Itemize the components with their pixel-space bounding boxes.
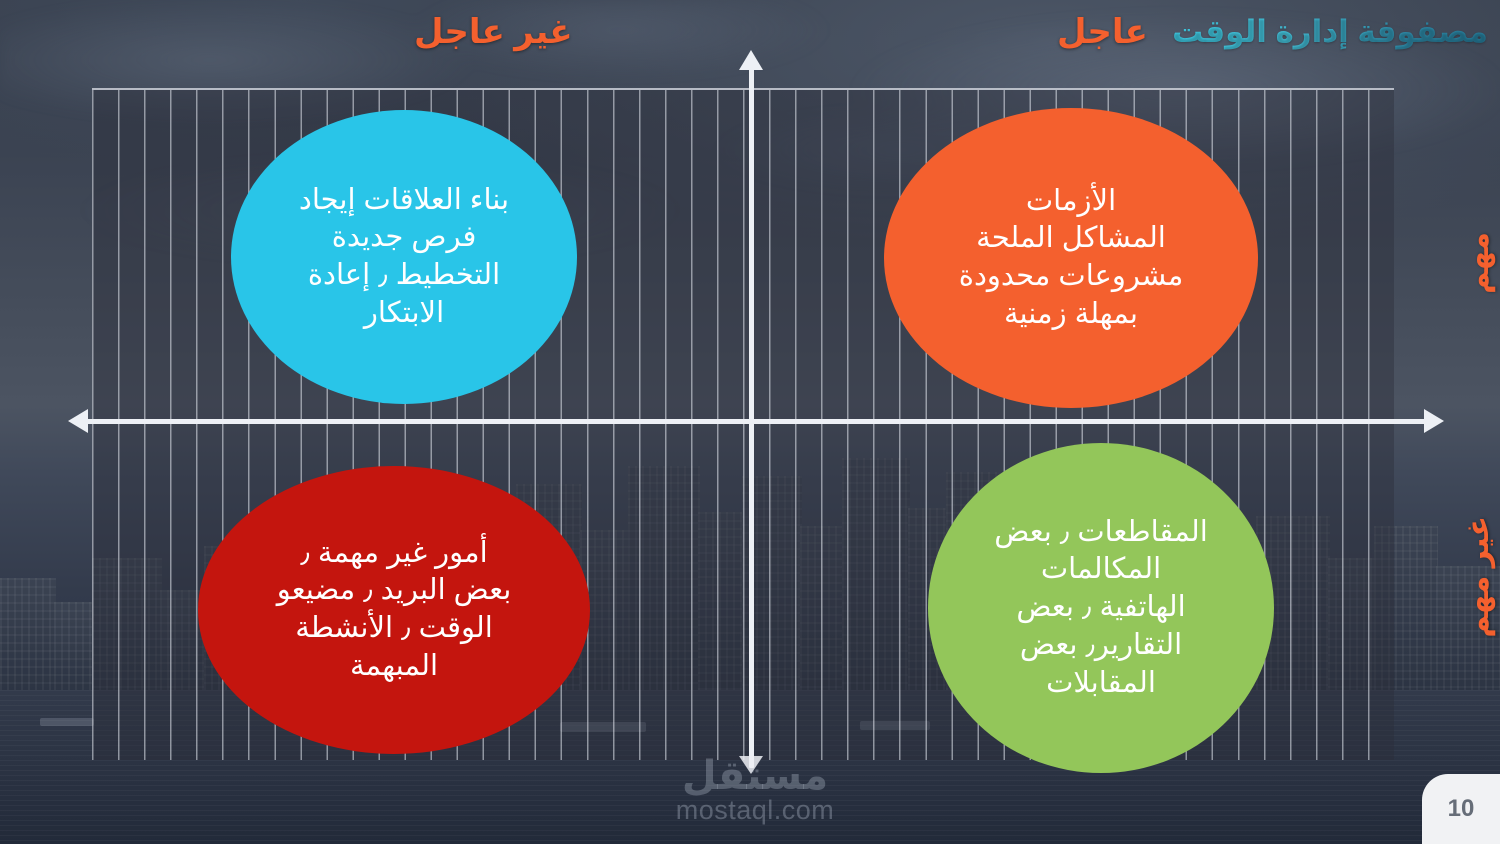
quadrant-line: المشاكل الملحة — [959, 220, 1184, 258]
quadrant-line: بناء العلاقات إيجاد — [299, 182, 509, 220]
quadrant-line: الأزمات — [959, 183, 1184, 221]
quadrant-line: المبهمة — [277, 648, 512, 686]
quadrant-line: المقابلات — [994, 665, 1208, 703]
column-header-urgent: عاجل — [1057, 12, 1148, 52]
quadrant-urgent-important: الأزمات المشاكل الملحة مشروعات محدودة بم… — [884, 108, 1258, 408]
quadrant-line: التخطيط ٫ إعادة — [299, 257, 509, 295]
quadrant-line: الابتكار — [299, 295, 509, 333]
slide-canvas: مصفوفة إدارة الوقت عاجل غير عاجل مهم غير… — [0, 0, 1500, 844]
page-number: 10 — [1448, 795, 1475, 823]
quadrant-urgent-not-important: المقاطعات ٫ بعض المكالمات الهاتفية ٫ بعض… — [928, 443, 1274, 773]
row-label-not-important: غير مهم — [1464, 516, 1494, 638]
arrow-right-icon — [1424, 409, 1444, 433]
quadrant-line: التقارير٫ بعض — [994, 627, 1208, 665]
page-title: مصفوفة إدارة الوقت — [1172, 14, 1488, 50]
page-number-badge: 10 — [1422, 774, 1500, 844]
column-header-not-urgent: غير عاجل — [414, 12, 573, 52]
quadrant-line: أمور غير مهمة ٫ — [277, 535, 512, 573]
quadrant-line: فرص جديدة — [299, 219, 509, 257]
vertical-axis — [749, 58, 754, 768]
quadrant-line: مشروعات محدودة — [959, 258, 1184, 296]
quadrant-line: الوقت ٫ الأنشطة — [277, 610, 512, 648]
quadrant-line: بعض البريد ٫ مضيعو — [277, 572, 512, 610]
quadrant-line: الهاتفية ٫ بعض — [994, 589, 1208, 627]
row-label-important: مهم — [1464, 232, 1494, 294]
quadrant-line: بمهلة زمنية — [959, 296, 1184, 334]
quadrant-line: المكالمات — [994, 551, 1208, 589]
arrow-down-icon — [739, 756, 763, 774]
quadrant-line: المقاطعات ٫ بعض — [994, 514, 1208, 552]
arrow-left-icon — [68, 409, 88, 433]
quadrant-not-urgent-important: بناء العلاقات إيجاد فرص جديدة التخطيط ٫ … — [231, 110, 577, 404]
arrow-up-icon — [739, 50, 763, 70]
quadrant-not-urgent-not-important: أمور غير مهمة ٫ بعض البريد ٫ مضيعو الوقت… — [198, 466, 590, 754]
